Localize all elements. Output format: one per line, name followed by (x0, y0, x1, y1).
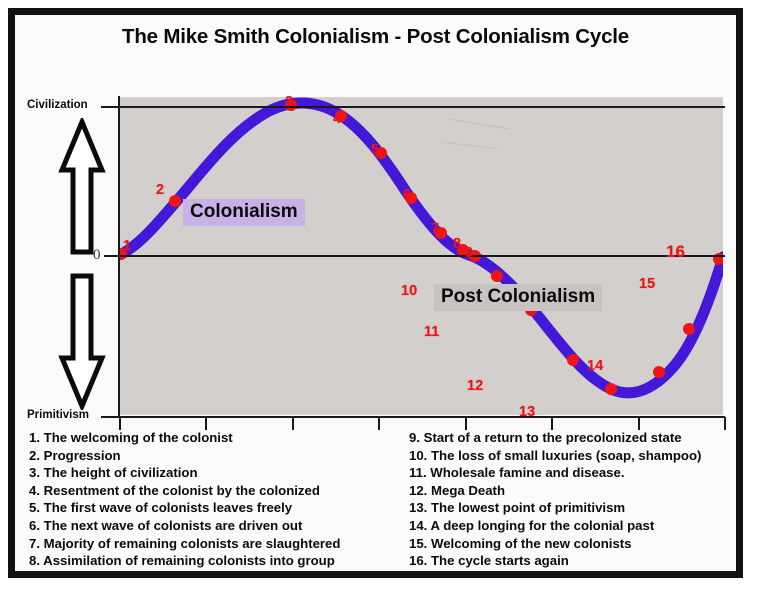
point-label-6: 6 (403, 188, 411, 203)
point-label-3: 3 (285, 95, 293, 110)
list-item: 1. The welcoming of the colonist (29, 429, 399, 447)
arrow-up-icon (62, 122, 102, 252)
list-item: 4. Resentment of the colonist by the col… (29, 482, 399, 500)
list-item: 16. The cycle starts again (409, 552, 754, 570)
point-label-1: 1 (123, 239, 131, 254)
point-label-7: 7 (431, 222, 439, 237)
page-title: The Mike Smith Colonialism - Post Coloni… (15, 25, 736, 49)
region-label-post-colonialism: Post Colonialism (434, 284, 602, 311)
list-item: 12. Mega Death (409, 482, 754, 500)
y-axis-zero-label: 0 (93, 247, 101, 264)
legend-column-left: 1. The welcoming of the colonist 2. Prog… (29, 429, 399, 570)
plot-top-line (101, 106, 725, 108)
list-item: 11. Wholesale famine and disease. (409, 464, 754, 482)
list-item: 13. The lowest point of primitivism (409, 499, 754, 517)
y-axis-tick-zero (104, 255, 119, 257)
point-label-5: 5 (371, 143, 379, 158)
civilization-primitivism-arrows (55, 118, 109, 410)
region-label-colonialism: Colonialism (183, 199, 305, 226)
list-item: 9. Start of a return to the precolonized… (409, 429, 754, 447)
point-label-2: 2 (156, 183, 164, 198)
infographic-frame: The Mike Smith Colonialism - Post Coloni… (8, 8, 743, 578)
y-axis-bottom-label: Primitivism (27, 409, 89, 421)
list-item: 15. Welcoming of the new colonists (409, 535, 754, 553)
list-item: 10. The loss of small luxuries (soap, sh… (409, 447, 754, 465)
list-item: 6. The next wave of colonists are driven… (29, 517, 399, 535)
point-label-15: 15 (639, 277, 655, 292)
list-item: 7. Majority of remaining colonists are s… (29, 535, 399, 553)
legend-column-right: 9. Start of a return to the precolonized… (409, 429, 754, 570)
y-axis-tick-primitivism (104, 416, 119, 418)
list-item: 2. Progression (29, 447, 399, 465)
list-item: 5. The first wave of colonists leaves fr… (29, 499, 399, 517)
point-label-10: 10 (401, 284, 417, 299)
arrow-down-icon (62, 276, 102, 406)
curve-path (119, 103, 723, 393)
point-label-8: 8 (453, 237, 461, 252)
point-label-14: 14 (587, 359, 603, 374)
list-item: 14. A deep longing for the colonial past (409, 517, 754, 535)
point-label-12: 12 (467, 379, 483, 394)
infographic-inner: The Mike Smith Colonialism - Post Coloni… (15, 15, 736, 571)
legend: 1. The welcoming of the colonist 2. Prog… (15, 429, 736, 569)
zero-line (119, 255, 725, 257)
list-item: 8. Assimilation of remaining colonists i… (29, 552, 399, 570)
point-label-13: 13 (519, 405, 535, 420)
point-label-9: 9 (465, 246, 473, 261)
y-axis-top-label: Civilization (27, 99, 88, 111)
y-axis-tick-civilization (104, 106, 119, 108)
list-item: 3. The height of civilization (29, 464, 399, 482)
point-label-11: 11 (424, 325, 439, 340)
y-axis-line (118, 96, 120, 418)
point-label-16: 16 (666, 243, 685, 260)
arrow-pair-icon (55, 118, 109, 410)
curve-point-markers (119, 99, 723, 395)
point-label-4: 4 (333, 112, 341, 127)
x-axis-line (101, 416, 725, 418)
